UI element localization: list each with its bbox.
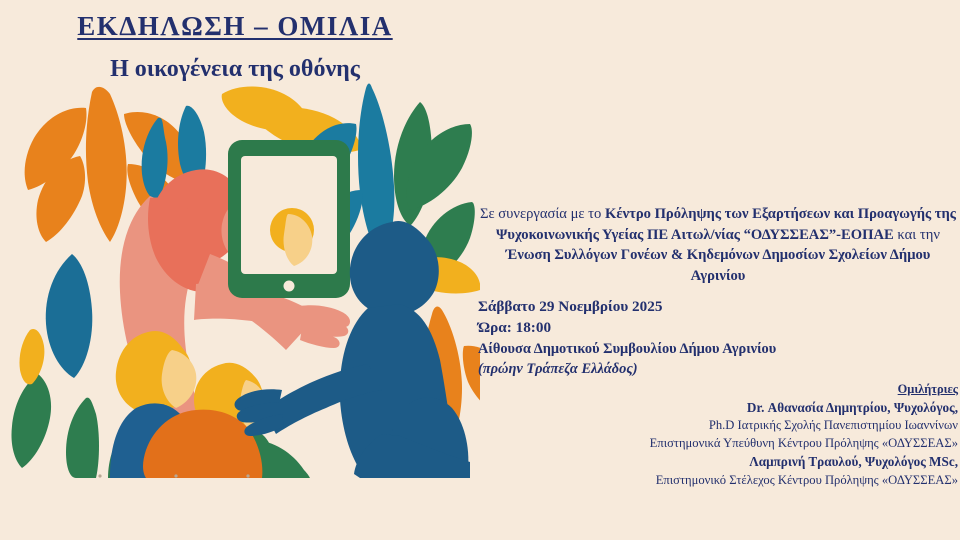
speaker-credential: Επιστημονικά Υπεύθυνη Κέντρου Πρόληψης «… [478,435,958,453]
speaker-name: Λαμπρινή Τραυλού, Ψυχολόγος MSc, [478,453,958,472]
speaker-credential: Ph.D Ιατρικής Σχολής Πανεπιστημίου Ιωανν… [478,417,958,435]
tablet-device [228,140,350,298]
floor-dot [98,474,101,477]
collaboration-org2: Ένωση Συλλόγων Γονέων & Κηδεμόνων Δημοσί… [506,247,931,284]
event-venue: Αίθουσα Δημοτικού Συμβουλίου Δήμου Αγριν… [478,339,958,359]
collaboration-statement: Σε συνεργασία με το Κέντρο Πρόληψης των … [478,204,958,287]
family-screen-illustration [0,78,480,478]
event-poster: ΕΚΔΗΛΩΣΗ – ΟΜΙΛΙΑ Η οικογένεια της οθόνη… [0,0,960,540]
floor-dot [174,474,177,477]
speaker-entry: Dr. Αθανασία Δημητρίου, Ψυχολόγος, Ph.D … [478,399,958,453]
tablet-home-button [284,281,295,292]
speakers-heading: Ομιλήτριες [478,381,958,399]
speaker-credential: Επιστημονικό Στέλεχος Κέντρου Πρόληψης «… [478,472,958,490]
collaboration-intro: Σε συνεργασία με το [480,206,605,222]
floor-dot [246,474,249,477]
event-info-column: Σε συνεργασία με το Κέντρο Πρόληψης των … [478,204,958,490]
event-venue-note: (πρώην Τράπεζα Ελλάδος) [478,359,958,379]
poster-title-block: ΕΚΔΗΛΩΣΗ – ΟΜΙΛΙΑ Η οικογένεια της οθόνη… [0,10,470,85]
event-time: Ώρα: 18:00 [478,317,958,339]
poster-subtitle: Η οικογένεια της οθόνης [0,54,470,85]
speakers-section: Ομιλήτριες Dr. Αθανασία Δημητρίου, Ψυχολ… [478,381,958,490]
speaker-entry: Λαμπρινή Τραυλού, Ψυχολόγος MSc, Επιστημ… [478,453,958,490]
poster-main-title: ΕΚΔΗΛΩΣΗ – ΟΜΙΛΙΑ [0,10,470,44]
event-details: Σάββατο 29 Νοεμβρίου 2025 Ώρα: 18:00 Αίθ… [478,296,958,380]
collaboration-conjunction: και την [894,227,940,243]
speaker-name: Dr. Αθανασία Δημητρίου, Ψυχολόγος, [478,399,958,418]
event-date: Σάββατο 29 Νοεμβρίου 2025 [478,296,958,318]
